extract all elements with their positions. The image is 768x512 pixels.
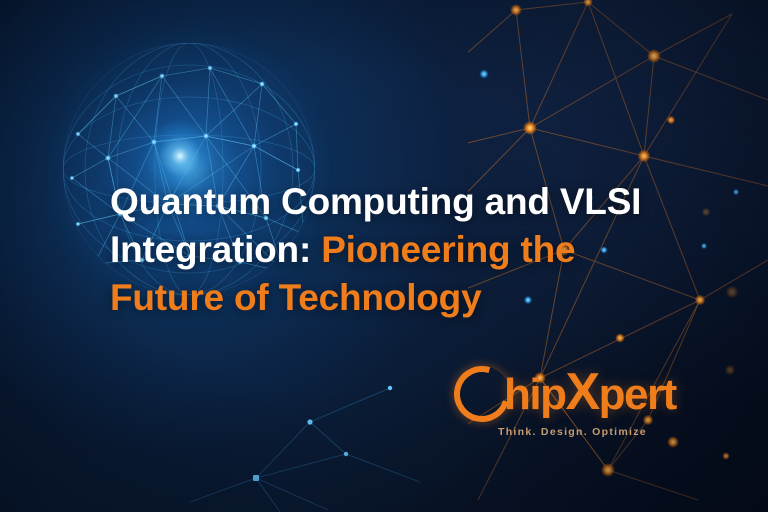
brand-logo[interactable]: hipXpert Think. Design. Optimize <box>452 362 698 450</box>
logo-word-x: X <box>565 363 598 421</box>
logo-word-part1: hip <box>504 370 565 419</box>
headline-line-2-white: Integration: <box>110 229 311 270</box>
headline-line-1: Quantum Computing and VLSI <box>110 181 641 222</box>
headline-line-3-accent: Future of Technology <box>110 277 481 318</box>
blue-network-decoration <box>160 362 420 512</box>
page-title: Quantum Computing and VLSI Integration: … <box>110 178 670 322</box>
logo-wordmark-row: hipXpert <box>452 362 698 422</box>
headline-line-2-accent: Pioneering the <box>321 229 575 270</box>
logo-c-ring-icon <box>452 364 508 420</box>
logo-tagline: Think. Design. Optimize <box>452 426 698 438</box>
hero-banner: Quantum Computing and VLSI Integration: … <box>0 0 768 512</box>
logo-word-part3: pert <box>599 370 676 419</box>
logo-wordmark: hipXpert <box>504 366 676 418</box>
